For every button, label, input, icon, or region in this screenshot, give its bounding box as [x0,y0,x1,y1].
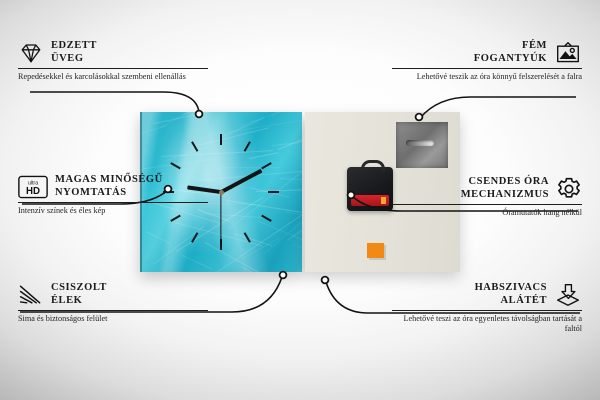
callout-divider [392,310,582,311]
ultra-hd-badge-icon: ultra HD [18,175,48,199]
callout-description: Sima és biztonságos felület [18,314,208,324]
svg-text:HD: HD [26,186,40,197]
callout-divider [18,68,208,69]
wire-tempered-glass [30,92,199,112]
callout-description: Lehetővé teszi az óra egyenletes távolsá… [392,314,582,335]
callout-description: Intenzív színek és éles kép [18,206,208,216]
hanger-slot [406,140,434,146]
callout-title-line2: NYOMTATÁS [55,187,163,200]
callout-description: Óramutatók hang nélkül [392,208,582,218]
foam-pad [367,243,384,258]
callout-divider [392,68,582,69]
callout-divider [18,310,208,311]
battery-label [351,195,389,206]
callout-title-line1: MAGAS MINŐSÉGŰ [55,174,163,187]
callout-title-line2: ALÁTÉT [475,295,547,308]
clock-tick [220,134,222,145]
clock-tick [268,191,279,193]
callout-title-line2: FOGANTYÚK [474,53,547,66]
movement-loop [361,160,385,172]
callout-divider [18,202,208,203]
metal-hanger [396,122,448,168]
callout-divider [392,204,582,205]
callout-description: Lehetővé teszik az óra könnyű felszerelé… [392,72,582,82]
callout-title-line1: CSISZOLT [51,282,107,295]
callout-title-line2: ÉLEK [51,295,107,308]
callout-silent-movement: CSENDES ÓRA MECHANIZMUS Óramutatók hang … [392,176,582,218]
callout-high-quality-print: ultra HD MAGAS MINŐSÉGŰ NYOMTATÁS Intenz… [18,174,208,216]
gear-icon [556,177,582,201]
callout-metal-handles: FÉM FOGANTYÚK Lehetővé teszik az óra kön… [392,40,582,82]
foam-pad-arrow-icon [554,283,582,307]
diamond-icon [18,41,44,65]
callout-title-line1: CSENDES ÓRA [461,176,549,189]
wire-endpoint-polished-edges [280,272,287,279]
wire-endpoint-foam-spacer [322,277,329,284]
callout-title-line1: HABSZIVACS [475,282,547,295]
picture-frame-hanger-icon [554,41,582,65]
callout-polished-edges: CSISZOLT ÉLEK Sima és biztonságos felüle… [18,282,208,324]
callout-title-line1: FÉM [474,40,547,53]
clock-hub [219,190,224,195]
callout-description: Repedésekkel és karcolásokkal szembeni e… [18,72,208,82]
callout-title-line1: EDZETT [51,40,97,53]
infographic-canvas: EDZETT ÜVEG Repedésekkel és karcolásokka… [0,0,600,400]
clock-movement [347,167,393,211]
polished-edges-icon [18,283,44,307]
callout-title-line2: ÜVEG [51,53,97,66]
callout-foam-spacer: HABSZIVACS ALÁTÉT Lehetővé teszi az óra … [392,282,582,335]
callout-title-line2: MECHANIZMUS [461,189,549,202]
callout-tempered-glass: EDZETT ÜVEG Repedésekkel és karcolásokka… [18,40,208,82]
